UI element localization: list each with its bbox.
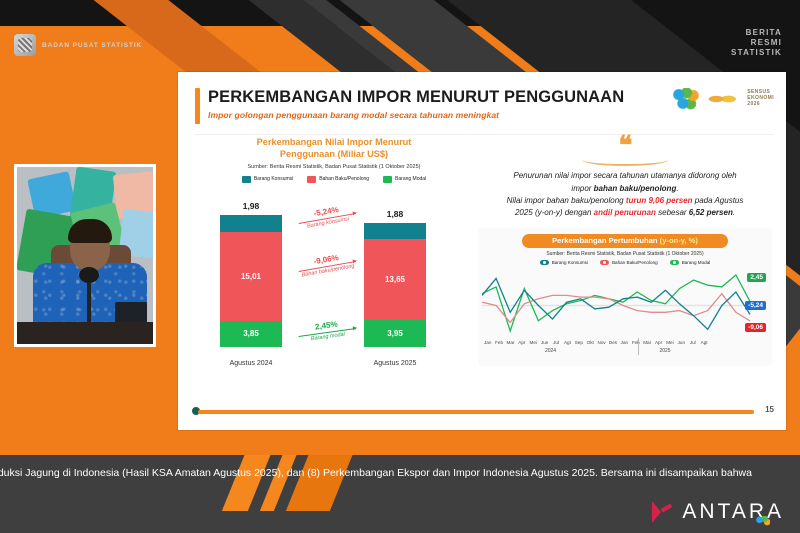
month-tick-label: Agt	[698, 340, 709, 345]
year-label-2024: 2024	[482, 348, 619, 354]
bar-segment-baku-2025: 13,65	[364, 239, 426, 320]
sensus-ekonomi-icon	[706, 89, 740, 109]
insight-line-1: Penurunan nilai impor secara tahunan uta…	[478, 170, 772, 182]
page-subtitle: Impor golongan penggunaan barang modal s…	[208, 110, 624, 120]
bar-chart-title-line1: Perkembangan Nilai Impor Menurut	[196, 136, 472, 148]
bar-top-value-2025: 1,88	[364, 209, 426, 219]
line-chart-xaxis: JanFebMarAprMeiJunJulAgtSepOktNovDes Jan…	[482, 340, 768, 362]
legend-item: Barang Konsumsi	[540, 260, 588, 265]
line-series-baku	[482, 293, 750, 322]
bar-annotation-konsumsi: -5,24% Barang konsumsi	[291, 201, 363, 232]
slide-logos: SENSUS EKONOMI 2026	[673, 88, 774, 110]
month-tick-label: Jan	[619, 340, 630, 345]
legend-label: Barang Modal	[395, 176, 426, 182]
legend-label: Barang Konsumsi	[254, 176, 293, 182]
bps-logo-label: BADAN PUSAT STATISTIK	[42, 42, 142, 49]
legend-swatch-baku	[307, 176, 316, 183]
bps-logo-icon	[673, 88, 699, 110]
laptop-icon	[115, 302, 147, 324]
year-label-2025: 2025	[619, 348, 711, 354]
antara-watermark: ANTARA	[650, 499, 784, 525]
bar-annotation-baku: -9,06% Bahan baku/penolong	[291, 249, 363, 280]
bar-chart-plot: 1,98 15,01 3,85 Agustus 2024 1,88 13,65 …	[196, 193, 472, 369]
bar-category-label-2024: Agustus 2024	[220, 360, 282, 367]
screenshot-root: BADAN PUSAT STATISTIK BERITA RESMI STATI…	[0, 0, 800, 533]
bar-chart-panel: Perkembangan Nilai Impor Menurut Penggun…	[196, 136, 472, 398]
bar-annotation-modal: 2,45% Barang modal	[291, 316, 363, 345]
legend-item: Barang Konsumsi	[242, 176, 293, 183]
line-end-label-baku: -9,06	[745, 323, 766, 332]
quote-icon: ❝	[478, 136, 772, 154]
legend-label: Barang Modal	[682, 260, 711, 265]
bar-segment-konsumsi-2024	[220, 215, 282, 232]
month-tick-label: Mar	[641, 340, 652, 345]
insight-line-4-pre: 2025 (y-on-y) dengan	[515, 208, 594, 217]
bps-logo: BADAN PUSAT STATISTIK	[14, 34, 142, 56]
page-number: 15	[765, 405, 774, 414]
legend-item: Bahan Baku/Penolong	[307, 176, 369, 183]
progress-bar	[198, 410, 754, 414]
ticker-stripe	[286, 455, 358, 511]
legend-swatch-konsumsi	[242, 176, 251, 183]
line-end-label-konsumsi: -5,24	[745, 301, 766, 310]
month-ticks-2024: JanFebMarAprMeiJunJulAgtSepOktNovDes	[482, 340, 619, 345]
month-tick-label: Feb	[630, 340, 641, 345]
month-tick-label: Jul	[550, 340, 561, 345]
slide-footer: 15	[192, 406, 774, 418]
legend-label: Bahan Baku/Penolong	[612, 260, 658, 265]
brand-line-1: BERITA	[731, 28, 782, 38]
line-chart-title: Perkembangan Pertumbuhan (y-on-y, %)	[522, 234, 728, 248]
presenter-desk	[17, 322, 156, 344]
bar-column-2024: 1,98 15,01 3,85	[220, 215, 282, 347]
bar-chart-source: Sumber: Berita Resmi Statistik, Badan Pu…	[196, 164, 472, 170]
line-chart-title-unit: (y-on-y, %)	[660, 236, 698, 245]
insight-line-2-bold: bahan baku/penolong	[594, 184, 677, 193]
line-chart-svg	[482, 267, 768, 339]
bar-segment-modal-2024: 3,85	[220, 321, 282, 347]
insight-line-3: Nilai impor bahan baku/penolong turun 9,…	[478, 195, 772, 207]
month-tick-label: Apr	[653, 340, 664, 345]
insight-line-3-pre: Nilai impor bahan baku/penolong	[507, 196, 626, 205]
year-divider	[638, 338, 639, 355]
legend-label: Bahan Baku/Penolong	[319, 176, 369, 182]
line-chart-title-main: Perkembangan Pertumbuhan	[552, 236, 660, 245]
month-tick-label: Sep	[573, 340, 584, 345]
insight-line-2: impor bahan baku/penolong.	[478, 183, 772, 195]
bar-chart-title-line2: Penggunaan (Miliar US$)	[196, 148, 472, 160]
month-tick-label: Jun	[539, 340, 550, 345]
insight-line-3-post: pada Agustus	[693, 196, 744, 205]
line-end-label-modal: 2,45	[747, 273, 766, 282]
insight-line-4-highlight: andil penurunan	[594, 208, 656, 217]
line-chart-source: Sumber: Berita Resmi Statistik, Badan Pu…	[482, 251, 768, 257]
bar-category-label-2025: Agustus 2025	[364, 360, 426, 367]
microphone-icon	[79, 267, 99, 283]
bar-chart-title: Perkembangan Nilai Impor Menurut Penggun…	[196, 136, 472, 161]
slide-header: PERKEMBANGAN IMPOR MENURUT PENGGUNAAN Im…	[195, 88, 624, 124]
bar-segment-modal-2025: 3,95	[364, 320, 426, 347]
ticker-text: oduksi Jagung di Indonesia (Hasil KSA Am…	[0, 467, 800, 479]
month-tick-label: Jun	[676, 340, 687, 345]
news-ticker: oduksi Jagung di Indonesia (Hasil KSA Am…	[0, 455, 800, 533]
antara-logo-icon	[650, 499, 676, 525]
page-title: PERKEMBANGAN IMPOR MENURUT PENGGUNAAN	[208, 89, 624, 106]
title-accent-bar	[195, 88, 200, 124]
month-tick-label: Jul	[687, 340, 698, 345]
bar-column-2025: 1,88 13,65 3,95	[364, 223, 426, 347]
brand-line-2: RESMI	[731, 38, 782, 48]
month-tick-label: Okt	[585, 340, 596, 345]
legend-marker-konsumsi	[540, 260, 549, 265]
insight-text: Penurunan nilai impor secara tahunan uta…	[478, 170, 772, 220]
legend-item: Barang Modal	[670, 260, 711, 265]
month-tick-label: Mei	[528, 340, 539, 345]
month-tick-label: Feb	[493, 340, 504, 345]
insight-line-2-post: .	[676, 184, 678, 193]
month-tick-label: Apr	[516, 340, 527, 345]
insight-line-4-post: .	[733, 208, 735, 217]
bps-mark-icon	[14, 34, 36, 56]
berita-resmi-statistik-brand: BERITA RESMI STATISTIK	[731, 28, 782, 58]
insight-line-4: 2025 (y-on-y) dengan andil penurunan seb…	[478, 207, 772, 219]
bps-small-logo-icon	[756, 516, 770, 527]
broadcast-header: BADAN PUSAT STATISTIK BERITA RESMI STATI…	[0, 0, 800, 72]
sensus-ekonomi-label: SENSUS EKONOMI 2026	[747, 90, 774, 107]
brand-line-3: STATISTIK	[731, 48, 782, 58]
legend-marker-modal	[670, 260, 679, 265]
month-tick-label: Jan	[482, 340, 493, 345]
legend-item: Barang Modal	[383, 176, 426, 183]
header-divider	[195, 134, 774, 135]
month-tick-label: Mar	[505, 340, 516, 345]
legend-swatch-modal	[383, 176, 392, 183]
insight-panel: ❝ Penurunan nilai impor secara tahunan u…	[478, 136, 772, 398]
line-chart-plot: 2,45 -5,24 -9,06	[482, 267, 768, 339]
sensus-line-3: 2026	[747, 102, 774, 108]
legend-item: Bahan Baku/Penolong	[600, 260, 658, 265]
bar-chart-legend: Barang Konsumsi Bahan Baku/Penolong Bara…	[196, 176, 472, 183]
insight-line-2-pre: impor	[571, 184, 593, 193]
line-chart-legend: Barang Konsumsi Bahan Baku/Penolong Bara…	[482, 260, 768, 265]
presenter-video-tile	[14, 164, 156, 347]
legend-marker-baku	[600, 260, 609, 265]
bar-segment-baku-2024: 15,01	[220, 232, 282, 321]
insight-line-4-bold: 6,52 persen	[689, 208, 733, 217]
bar-top-value-2024: 1,98	[220, 201, 282, 211]
presentation-slide: PERKEMBANGAN IMPOR MENURUT PENGGUNAAN Im…	[178, 72, 786, 430]
month-ticks-2025: JanFebMarAprMeiJunJulAgt	[619, 340, 710, 345]
insight-line-3-highlight: turun 9,06 persen	[626, 196, 693, 205]
line-chart-panel: Perkembangan Pertumbuhan (y-on-y, %) Sum…	[478, 228, 772, 366]
month-tick-label: Nov	[596, 340, 607, 345]
month-tick-label: Mei	[664, 340, 675, 345]
month-tick-label: Agt	[562, 340, 573, 345]
year-label-row: 2024 2025	[482, 345, 768, 354]
presenter-hair	[68, 219, 112, 243]
bar-segment-konsumsi-2025	[364, 223, 426, 239]
month-tick-label: Des	[607, 340, 618, 345]
legend-label: Barang Konsumsi	[552, 260, 588, 265]
insight-line-4-mid: sebesar	[656, 208, 689, 217]
